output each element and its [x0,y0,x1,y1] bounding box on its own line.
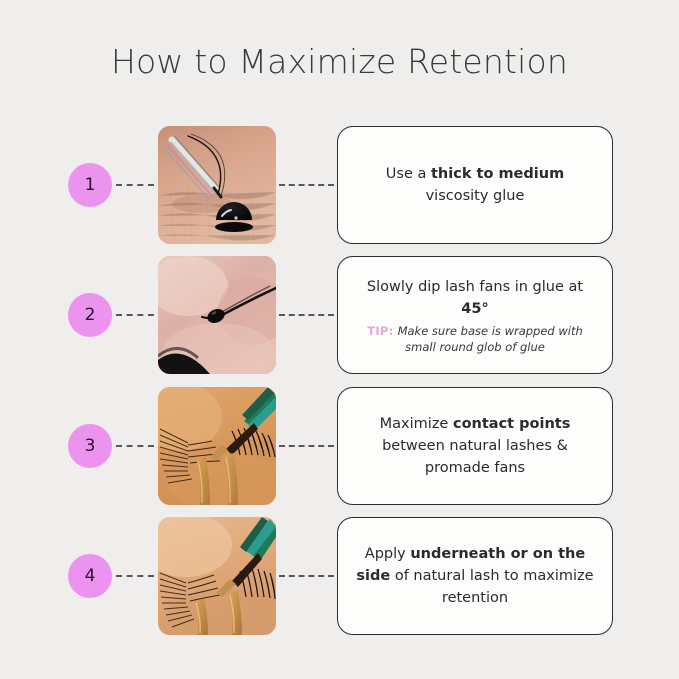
step-number-4: 4 [68,554,112,598]
text-prefix: between natural lashes & [382,438,568,454]
step-card-4: Apply underneath or on the side of natur… [337,517,613,635]
step-number-2: 2 [68,293,112,337]
tip-label: TIP: [367,324,393,338]
step-row-1: 1 [0,126,679,244]
infographic-page: How to Maximize Retention 1 [0,0,679,679]
step-number-1: 1 [68,163,112,207]
step-text-4-line-1: Apply underneath or on the [365,543,585,565]
page-title: How to Maximize Retention [0,42,679,81]
step-photo-4 [158,517,276,635]
step-tip-2: TIP:Make sure base is wrapped with small… [367,323,583,355]
text-bold: 45° [461,301,488,317]
text-prefix: Apply [365,546,411,562]
step-number-3: 3 [68,424,112,468]
step-row-4: 4 [0,517,679,635]
text-bold: thick to medium [431,166,564,182]
step-text-4-line-3: retention [442,587,508,609]
connector-right-4 [279,575,334,577]
step-photo-3 [158,387,276,505]
text-prefix: promade fans [425,460,525,476]
step-card-3: Maximize contact points between natural … [337,387,613,505]
text-bold: underneath or on the [410,546,585,562]
connector-left-3 [116,445,154,447]
step-text-3-line-1: Maximize contact points [380,413,571,435]
step-photo-1 [158,126,276,244]
step-row-2: 2 [0,256,679,374]
connector-left-4 [116,575,154,577]
step-photo-2 [158,256,276,374]
connector-left-2 [116,314,154,316]
tip-line-1: TIP:Make sure base is wrapped with [367,323,583,339]
step-text-1-line-2: viscosity glue [426,185,525,207]
step-card-1: Use a thick to medium viscosity glue [337,126,613,244]
step-text-1-line-1: Use a thick to medium [386,163,564,185]
text-prefix: Slowly dip lash fans in glue at [367,279,583,295]
text-suffix: of natural lash to maximize [390,568,593,584]
text-prefix: viscosity glue [426,188,525,204]
text-bold: side [356,568,390,584]
step-text-3-line-2: between natural lashes & [382,435,568,457]
connector-right-2 [279,314,334,316]
step-text-2-line-1: Slowly dip lash fans in glue at 45° [352,276,598,320]
tip-text: Make sure base is wrapped with [398,324,583,338]
step-card-2: Slowly dip lash fans in glue at 45° TIP:… [337,256,613,374]
text-bold: contact points [453,416,570,432]
text-prefix: retention [442,590,508,606]
connector-left-1 [116,184,154,186]
connector-right-1 [279,184,334,186]
step-text-3-line-3: promade fans [425,457,525,479]
tip-line-2: small round glob of glue [367,339,583,355]
connector-right-3 [279,445,334,447]
text-prefix: Use a [386,166,431,182]
text-prefix: Maximize [380,416,453,432]
step-row-3: 3 [0,387,679,505]
step-text-4-line-2: side of natural lash to maximize [356,565,593,587]
